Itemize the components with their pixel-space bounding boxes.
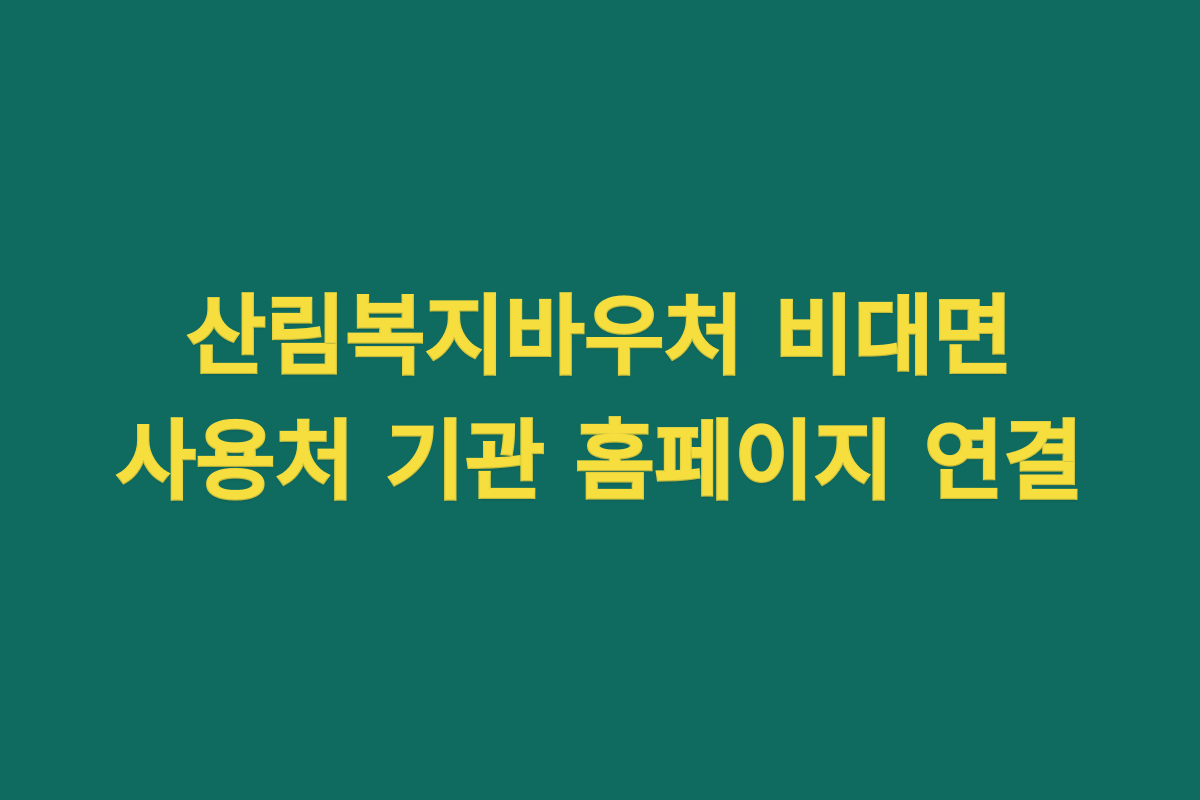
banner-card: 산림복지바우처 비대면 사용처 기관 홈페이지 연결 [0,0,1200,800]
headline-block: 산림복지바우처 비대면 사용처 기관 홈페이지 연결 [0,275,1200,525]
banner-headline: 산림복지바우처 비대면 사용처 기관 홈페이지 연결 [88,275,1112,525]
